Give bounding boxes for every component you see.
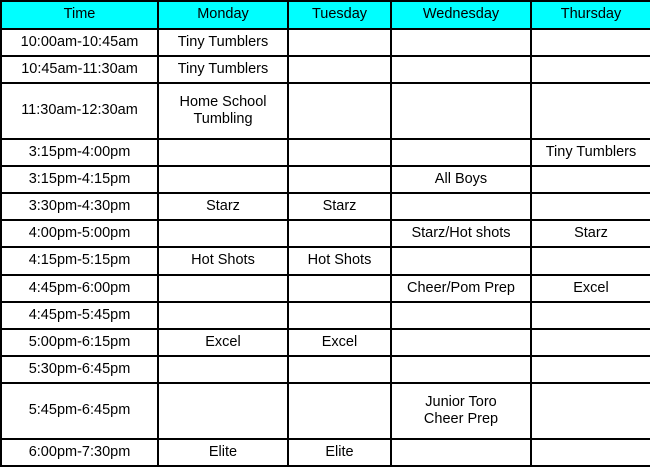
class-cell-tuesday: [288, 383, 391, 438]
class-cell-monday: [158, 356, 288, 383]
time-slot-cell: 3:30pm-4:30pm: [1, 193, 158, 220]
class-cell-wednesday: [391, 439, 531, 466]
class-cell-thursday: [531, 439, 650, 466]
class-cell-wednesday: [391, 83, 531, 138]
class-cell-tuesday: [288, 302, 391, 329]
class-cell-wednesday: Cheer/Pom Prep: [391, 275, 531, 302]
table-row: 3:15pm-4:15pmAll Boys: [1, 166, 650, 193]
class-cell-wednesday: Junior Toro Cheer Prep: [391, 383, 531, 438]
table-row: 10:45am-11:30amTiny Tumblers: [1, 56, 650, 83]
time-slot-cell: 10:00am-10:45am: [1, 29, 158, 56]
time-slot-cell: 10:45am-11:30am: [1, 56, 158, 83]
class-cell-wednesday: [391, 329, 531, 356]
class-cell-monday: [158, 302, 288, 329]
time-slot-cell: 6:00pm-7:30pm: [1, 439, 158, 466]
time-slot-cell: 4:15pm-5:15pm: [1, 247, 158, 274]
class-cell-monday: Excel: [158, 329, 288, 356]
class-cell-thursday: [531, 247, 650, 274]
column-header-monday: Monday: [158, 1, 288, 29]
class-cell-tuesday: [288, 56, 391, 83]
class-cell-tuesday: [288, 139, 391, 166]
class-cell-thursday: [531, 83, 650, 138]
class-cell-tuesday: [288, 166, 391, 193]
class-cell-wednesday: All Boys: [391, 166, 531, 193]
class-cell-wednesday: [391, 29, 531, 56]
class-cell-tuesday: Elite: [288, 439, 391, 466]
class-cell-wednesday: [391, 247, 531, 274]
class-cell-monday: [158, 220, 288, 247]
class-cell-tuesday: Starz: [288, 193, 391, 220]
class-cell-monday: Tiny Tumblers: [158, 56, 288, 83]
class-cell-wednesday: [391, 193, 531, 220]
class-cell-tuesday: [288, 275, 391, 302]
table-row: 3:15pm-4:00pmTiny Tumblers: [1, 139, 650, 166]
class-cell-thursday: [531, 193, 650, 220]
time-slot-cell: 3:15pm-4:15pm: [1, 166, 158, 193]
class-cell-wednesday: [391, 302, 531, 329]
column-header-wednesday: Wednesday: [391, 1, 531, 29]
class-cell-thursday: Excel: [531, 275, 650, 302]
table-row: 5:45pm-6:45pmJunior Toro Cheer Prep: [1, 383, 650, 438]
class-cell-thursday: Tiny Tumblers: [531, 139, 650, 166]
class-cell-thursday: [531, 166, 650, 193]
class-cell-tuesday: Excel: [288, 329, 391, 356]
class-cell-wednesday: [391, 139, 531, 166]
table-row: 6:00pm-7:30pmEliteElite: [1, 439, 650, 466]
class-cell-monday: [158, 166, 288, 193]
class-cell-tuesday: [288, 83, 391, 138]
column-header-time: Time: [1, 1, 158, 29]
table-body: 10:00am-10:45amTiny Tumblers10:45am-11:3…: [1, 29, 650, 466]
table-row: 4:15pm-5:15pmHot ShotsHot Shots: [1, 247, 650, 274]
class-cell-tuesday: [288, 220, 391, 247]
table-header: Time Monday Tuesday Wednesday Thursday: [1, 1, 650, 29]
class-cell-thursday: [531, 29, 650, 56]
class-cell-tuesday: [288, 29, 391, 56]
class-cell-monday: [158, 139, 288, 166]
header-row: Time Monday Tuesday Wednesday Thursday: [1, 1, 650, 29]
class-cell-tuesday: Hot Shots: [288, 247, 391, 274]
table-row: 11:30am-12:30amHome School Tumbling: [1, 83, 650, 138]
class-cell-wednesday: Starz/Hot shots: [391, 220, 531, 247]
class-cell-thursday: [531, 302, 650, 329]
time-slot-cell: 5:30pm-6:45pm: [1, 356, 158, 383]
class-cell-thursday: Starz: [531, 220, 650, 247]
time-slot-cell: 4:00pm-5:00pm: [1, 220, 158, 247]
schedule-container: Time Monday Tuesday Wednesday Thursday 1…: [0, 0, 650, 467]
class-cell-monday: Starz: [158, 193, 288, 220]
table-row: 5:30pm-6:45pm: [1, 356, 650, 383]
class-cell-monday: [158, 383, 288, 438]
class-cell-thursday: [531, 329, 650, 356]
class-cell-thursday: [531, 356, 650, 383]
table-row: 4:00pm-5:00pmStarz/Hot shotsStarz: [1, 220, 650, 247]
time-slot-cell: 3:15pm-4:00pm: [1, 139, 158, 166]
class-cell-monday: Hot Shots: [158, 247, 288, 274]
class-cell-wednesday: [391, 56, 531, 83]
class-cell-monday: Elite: [158, 439, 288, 466]
class-cell-monday: Home School Tumbling: [158, 83, 288, 138]
column-header-tuesday: Tuesday: [288, 1, 391, 29]
table-row: 4:45pm-6:00pmCheer/Pom PrepExcel: [1, 275, 650, 302]
time-slot-cell: 5:45pm-6:45pm: [1, 383, 158, 438]
table-row: 5:00pm-6:15pmExcelExcel: [1, 329, 650, 356]
class-cell-monday: [158, 275, 288, 302]
class-cell-thursday: [531, 383, 650, 438]
class-cell-monday: Tiny Tumblers: [158, 29, 288, 56]
class-cell-thursday: [531, 56, 650, 83]
class-schedule-table: Time Monday Tuesday Wednesday Thursday 1…: [0, 0, 650, 467]
time-slot-cell: 4:45pm-5:45pm: [1, 302, 158, 329]
time-slot-cell: 5:00pm-6:15pm: [1, 329, 158, 356]
time-slot-cell: 11:30am-12:30am: [1, 83, 158, 138]
column-header-thursday: Thursday: [531, 1, 650, 29]
table-row: 10:00am-10:45amTiny Tumblers: [1, 29, 650, 56]
class-cell-tuesday: [288, 356, 391, 383]
table-row: 4:45pm-5:45pm: [1, 302, 650, 329]
table-row: 3:30pm-4:30pmStarzStarz: [1, 193, 650, 220]
time-slot-cell: 4:45pm-6:00pm: [1, 275, 158, 302]
class-cell-wednesday: [391, 356, 531, 383]
